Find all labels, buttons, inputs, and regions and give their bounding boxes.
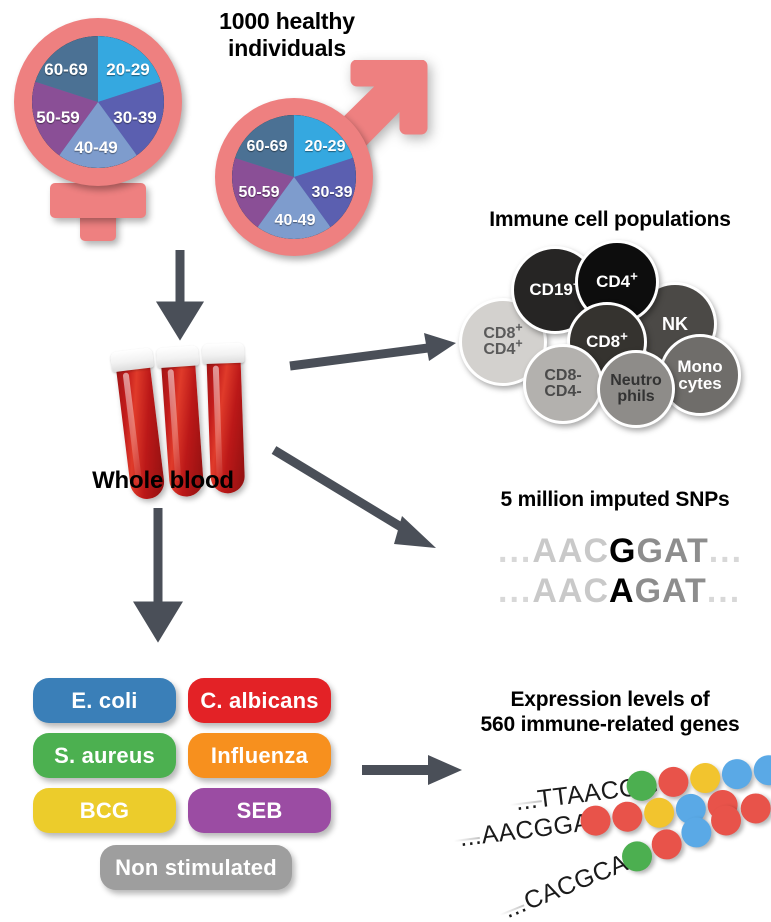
female-pie-label-60-69: 60-69 <box>44 60 87 80</box>
snp-trailing-dots: ... <box>707 572 741 610</box>
male-pie-label-40-49: 40-49 <box>275 212 316 230</box>
snp-sequence-row-1: ...AACGGAT... <box>498 532 743 571</box>
expression-title-line2: 560 immune-related genes <box>452 713 768 738</box>
male-pie-label-60-69: 60-69 <box>247 138 288 156</box>
cell-label: CD8-CD4- <box>544 368 581 401</box>
blood-tube-lip <box>202 343 245 364</box>
female-stem-horizontal <box>50 183 146 218</box>
cell-label: CD4+ <box>596 273 638 290</box>
stim-seb[interactable]: SEB <box>188 788 331 833</box>
whole-blood-label: Whole blood <box>68 467 258 495</box>
stim-label: Influenza <box>211 743 308 769</box>
rna-bead <box>736 789 771 828</box>
cell-label: NK <box>662 315 688 333</box>
snp-prefix: AAC <box>532 572 609 610</box>
stim-bcg[interactable]: BCG <box>33 788 176 833</box>
expression-title: Expression levels of 560 immune-related … <box>452 688 768 738</box>
immune-cell-cluster: CD8+CD4+ NK CD19+ CD4+ CD8+ Monocytes CD… <box>455 240 765 420</box>
expression-title-line1: Expression levels of <box>452 688 768 713</box>
arrow-blood-to-snps <box>272 448 462 558</box>
cell-label: Neutrophils <box>610 373 662 406</box>
figure-canvas: 1000 healthy individuals 20-29 30-39 40-… <box>0 0 771 922</box>
cell-label: CD19+ <box>529 281 580 298</box>
stim-label: SEB <box>237 798 283 824</box>
snp-leading-dots: ... <box>498 572 532 610</box>
stim-label: BCG <box>80 798 130 824</box>
male-symbol: 20-29 30-39 40-49 50-59 60-69 <box>195 60 435 260</box>
snp-variant-base: G <box>609 532 636 570</box>
stim-label: S. aureus <box>54 743 155 769</box>
female-pie-label-50-59: 50-59 <box>36 108 79 128</box>
stim-label: Non stimulated <box>115 855 277 881</box>
stim-label: C. albicans <box>200 688 318 714</box>
cell-label: CD8+CD4+ <box>483 326 522 359</box>
stim-non-stimulated[interactable]: Non stimulated <box>100 845 292 890</box>
cell-label: Monocytes <box>677 358 722 393</box>
immune-title: Immune cell populations <box>455 208 765 233</box>
female-pie-label-40-49: 40-49 <box>74 138 117 158</box>
female-pie-label-20-29: 20-29 <box>106 60 149 80</box>
stim-c-albicans[interactable]: C. albicans <box>188 678 331 723</box>
snp-trailing-dots: ... <box>709 532 743 570</box>
rna-bead <box>611 800 644 833</box>
snp-suffix: GAT <box>636 532 708 570</box>
stim-s-aureus[interactable]: S. aureus <box>33 733 176 778</box>
snp-variant-base: A <box>609 572 635 610</box>
snp-sequence-row-2: ...AACAGAT... <box>498 572 741 611</box>
blood-tube-lip <box>156 345 199 368</box>
snp-prefix: AAC <box>532 532 609 570</box>
female-symbol: 20-29 30-39 40-49 50-59 60-69 <box>0 8 210 238</box>
stim-influenza[interactable]: Influenza <box>188 733 331 778</box>
rna-bead <box>752 753 771 786</box>
arrow-blood-to-immune <box>288 330 468 380</box>
female-pie-label-30-39: 30-39 <box>113 108 156 128</box>
arrow-cohort-to-blood <box>160 250 200 340</box>
snp-suffix: GAT <box>635 572 707 610</box>
stim-e-coli[interactable]: E. coli <box>33 678 176 723</box>
cell-cd8-neg-cd4-neg: CD8-CD4- <box>523 344 603 424</box>
snp-leading-dots: ... <box>498 532 532 570</box>
stim-label: E. coli <box>71 688 137 714</box>
male-pie-label-50-59: 50-59 <box>239 184 280 202</box>
snps-title: 5 million imputed SNPs <box>470 488 760 513</box>
rna-strands-group: ...TTAACGG ...AACGGAT ...CACGCAA <box>440 745 771 922</box>
male-pie-label-30-39: 30-39 <box>312 184 353 202</box>
cell-neutrophils: Neutrophils <box>597 350 675 428</box>
cell-label: CD8+ <box>586 333 628 350</box>
male-pie-label-20-29: 20-29 <box>305 138 346 156</box>
arrow-blood-to-stimuli <box>138 508 178 638</box>
